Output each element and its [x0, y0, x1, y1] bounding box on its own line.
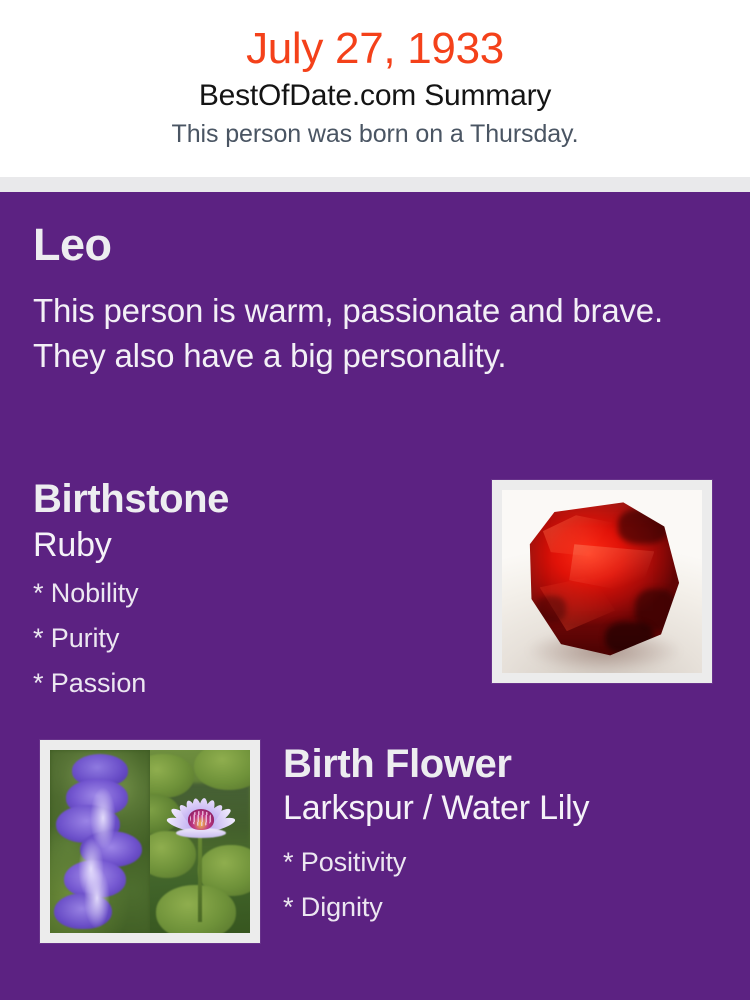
- zodiac-sign-name: Leo: [33, 219, 112, 271]
- birthflower-section: Birth Flower Larkspur / Water Lily * Pos…: [283, 740, 723, 930]
- list-item: * Nobility: [33, 571, 473, 616]
- birthflower-value: Larkspur / Water Lily: [283, 786, 723, 830]
- ruby-scene: [502, 490, 702, 673]
- birthstone-section: Birthstone Ruby * Nobility * Purity * Pa…: [33, 475, 473, 706]
- summary-card: July 27, 1933 BestOfDate.com Summary Thi…: [0, 0, 750, 1000]
- list-item: * Purity: [33, 616, 473, 661]
- day-of-week-text: This person was born on a Thursday.: [0, 116, 750, 152]
- birthstone-image-frame: [492, 480, 712, 683]
- birthstone-trait-list: * Nobility * Purity * Passion: [33, 571, 473, 706]
- water-lily-photo: [150, 750, 250, 933]
- birthstone-value: Ruby: [33, 523, 473, 567]
- lily-pad: [156, 885, 236, 933]
- list-item: * Dignity: [283, 885, 723, 930]
- ruby-inclusion: [536, 596, 566, 622]
- page-title-date: July 27, 1933: [0, 22, 750, 76]
- site-name: BestOfDate.com Summary: [0, 76, 750, 116]
- list-item: * Passion: [33, 661, 473, 706]
- birthstone-heading: Birthstone: [33, 475, 473, 523]
- ruby-gemstone-photo: [502, 490, 702, 673]
- birthflower-photo-pair: [50, 750, 250, 933]
- list-item: * Positivity: [283, 840, 723, 885]
- lily-stamen-center: [188, 809, 214, 830]
- header: July 27, 1933 BestOfDate.com Summary Thi…: [0, 0, 750, 177]
- header-divider: [0, 177, 750, 192]
- larkspur-highlight: [84, 867, 110, 929]
- birthflower-image-frame: [40, 740, 260, 943]
- details-panel: Leo This person is warm, passionate and …: [0, 192, 750, 1000]
- birthflower-trait-list: * Positivity * Dignity: [283, 840, 723, 930]
- ruby-inclusion: [618, 509, 667, 544]
- birthflower-heading: Birth Flower: [283, 740, 723, 788]
- zodiac-description: This person is warm, passionate and brav…: [33, 288, 693, 378]
- larkspur-photo: [50, 750, 150, 933]
- water-lily-bloom: [168, 779, 234, 841]
